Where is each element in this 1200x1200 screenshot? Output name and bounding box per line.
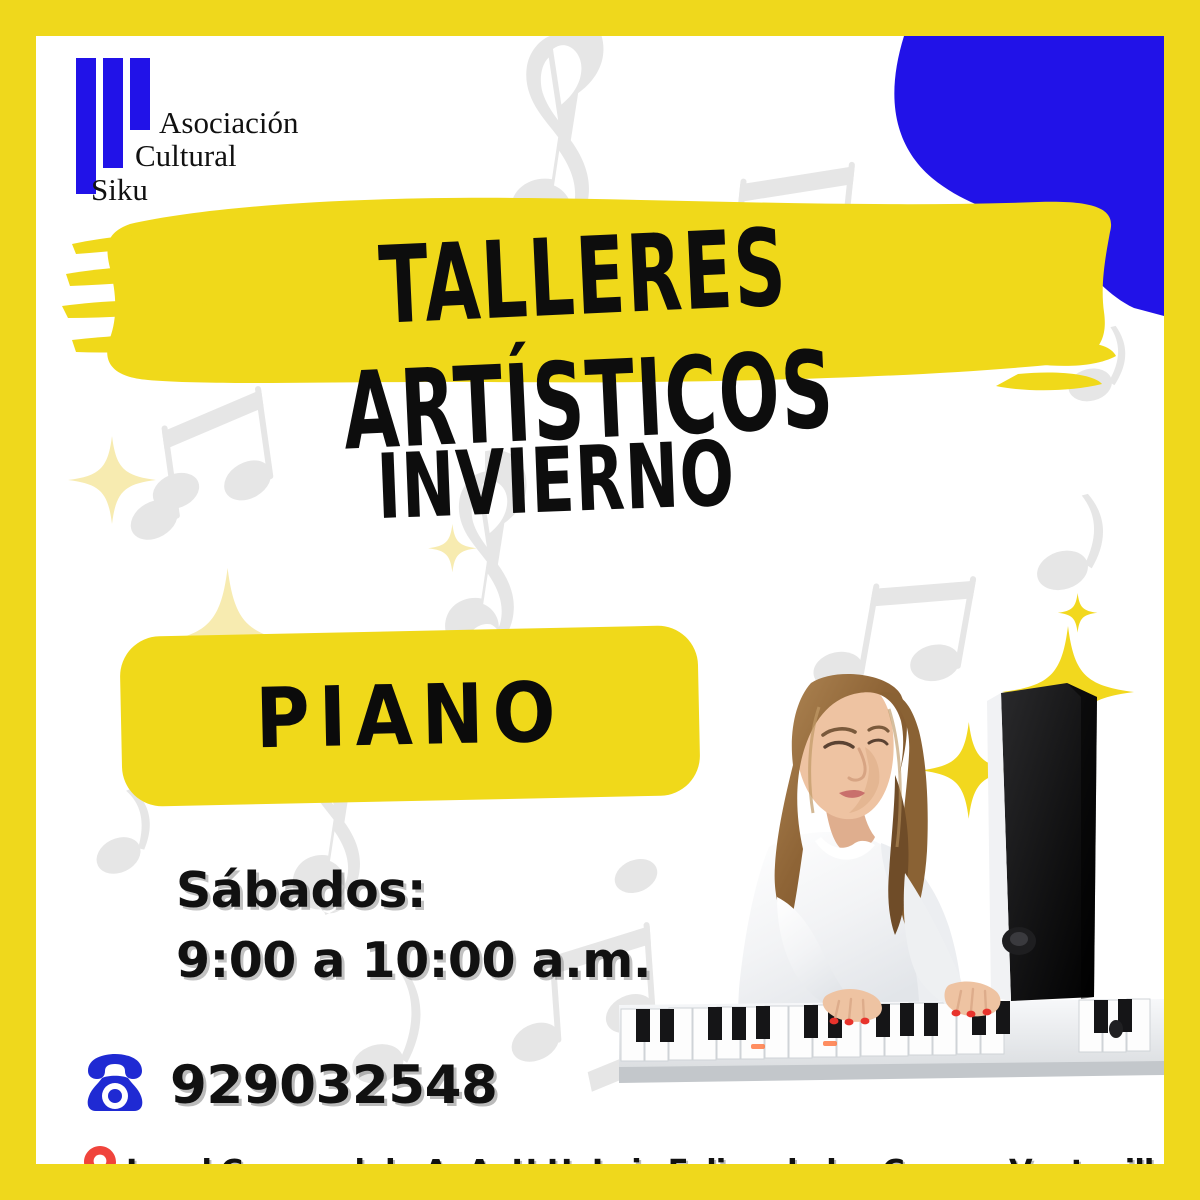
workshop-badge: PIANO: [119, 625, 700, 807]
schedule-time: 9:00 a 10:00 a.m.: [176, 926, 651, 996]
organization-logo: Asociación Cultural Siku: [76, 58, 298, 206]
keyboard-player-photo: [619, 597, 1164, 1092]
phone-number: 929032548: [170, 1055, 497, 1116]
address-row: Local Comunal de A. A. H.H. Luis Felipe …: [84, 1146, 1164, 1164]
phone-contact-row: 929032548: [82, 1054, 497, 1117]
address-text: Local Comunal de A. A. H.H. Luis Felipe …: [126, 1154, 1164, 1164]
logo-line-cultural: Cultural: [135, 139, 298, 172]
page-subtitle-text: INVIERNO: [375, 422, 737, 540]
map-pin-icon: [84, 1146, 116, 1164]
schedule-day: Sábados:: [176, 856, 651, 926]
workshop-badge-label: PIANO: [255, 665, 566, 768]
telephone-icon: [82, 1054, 148, 1117]
poster-canvas: Asociación Cultural Siku TALLE: [36, 36, 1164, 1164]
logo-line-asociacion: Asociación: [159, 106, 298, 139]
poster-root: Asociación Cultural Siku TALLE: [0, 0, 1200, 1200]
schedule-block: Sábados: 9:00 a 10:00 a.m.: [176, 856, 651, 995]
